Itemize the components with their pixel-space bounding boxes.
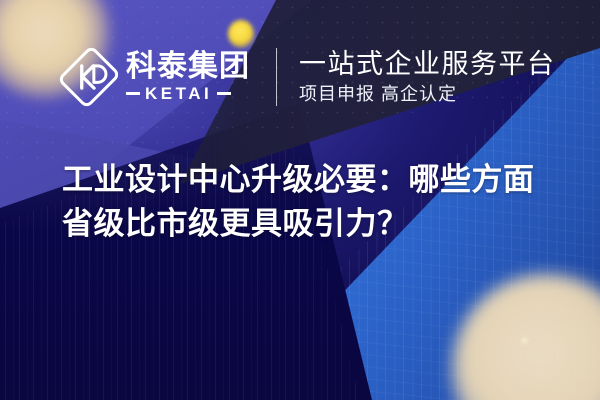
banner-header: 科泰集团 KETAI 一站式企业服务平台 项目申报 高企认定 (58, 40, 556, 114)
logo-name-en: KETAI (145, 85, 212, 102)
logo-name-cn: 科泰集团 (126, 52, 250, 83)
slogan-sub: 项目申报 高企认定 (299, 85, 556, 105)
bokeh-dot-small (520, 336, 529, 345)
logo-rule-right (217, 92, 231, 95)
headline-title: 工业设计中心升级必要：哪些方面省级比市级更具吸引力？ (62, 158, 562, 246)
ketai-logo-icon (58, 46, 120, 108)
logo-wordmark: 科泰集团 KETAI (126, 52, 250, 103)
logo-name-en-row: KETAI (126, 85, 250, 102)
slogan-main: 一站式企业服务平台 (299, 49, 556, 79)
header-divider (276, 48, 277, 106)
promo-banner: 科泰集团 KETAI 一站式企业服务平台 项目申报 高企认定 工业设计中心升级必… (0, 0, 600, 400)
slogan-block: 一站式企业服务平台 项目申报 高企认定 (299, 49, 556, 104)
logo-rule-left (126, 92, 140, 95)
